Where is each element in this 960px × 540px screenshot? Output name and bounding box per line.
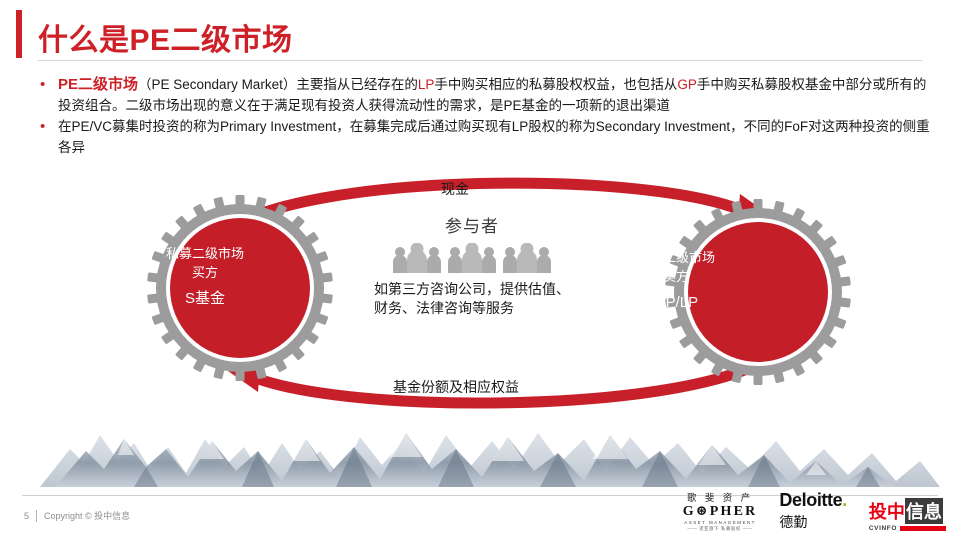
bullet-list: • PE二级市场（PE Secondary Market）主要指从已经存在的LP…: [36, 74, 932, 158]
bullet-text: PE二级市场（PE Secondary Market）主要指从已经存在的LP手中…: [58, 74, 932, 116]
seller-line3: GP/LP: [596, 293, 756, 312]
slide-root: 什么是PE二级市场 • PE二级市场（PE Secondary Market）主…: [0, 0, 960, 540]
bullet-marker: •: [36, 74, 58, 95]
seller-line2: 卖方: [596, 267, 756, 286]
deloitte-green-dot: .: [842, 490, 847, 510]
logo-strip: 歌 斐 资 产 G⊛PHER ASSET MANAGEMENT —— 诺亚旗下 …: [683, 490, 946, 532]
deloitte-cn: 德勤: [779, 512, 846, 532]
page-number: 5: [24, 511, 29, 521]
buyer-line3: S基金: [125, 289, 285, 308]
list-item: • PE二级市场（PE Secondary Market）主要指从已经存在的LP…: [36, 74, 932, 116]
deloitte-wordmark: Deloitte: [779, 490, 842, 510]
cvinfo-dark: 信息: [905, 498, 943, 524]
buyer-line2: 买方: [125, 263, 285, 282]
bullet-segment: （PE Secondary Market）主要指从已经存在的: [138, 77, 418, 92]
seller-line1: 私募二级市场: [596, 248, 756, 267]
people-group-icon: [374, 243, 570, 273]
node-label-buyer: 私募二级市场 买方 S基金: [125, 244, 285, 308]
bullet-text: 在PE/VC募集时投资的称为Primary Investment，在募集完成后通…: [58, 116, 932, 158]
people-group-icon: [447, 243, 497, 273]
bullet-segment-emphasis: PE二级市场: [58, 76, 138, 93]
arrow-label-cash: 现金: [441, 179, 469, 199]
logo-deloitte: Deloitte. 德勤: [779, 490, 846, 532]
bullet-segment-lp: LP: [418, 77, 435, 92]
copyright-text: Copyright © 投中信息: [44, 509, 130, 522]
bullet-marker: •: [36, 116, 58, 137]
gopher-sub2: —— 诺亚旗下 私募股权 ——: [683, 526, 758, 532]
buyer-line1: 私募二级市场: [125, 244, 285, 263]
participants-block: 参与者: [374, 212, 570, 318]
list-item: • 在PE/VC募集时投资的称为Primary Investment，在募集完成…: [36, 116, 932, 158]
bullet-segment: 手中购买相应的私募股权权益，也包括从: [434, 77, 677, 92]
footer-separator: [36, 510, 37, 522]
title-divider: [38, 60, 922, 61]
gopher-en: G⊛PHER: [683, 504, 758, 520]
gopher-cn: 歌 斐 资 产: [683, 490, 758, 504]
node-label-seller: 私募二级市场 卖方 GP/LP: [596, 248, 756, 312]
cvinfo-red-bar: [900, 526, 946, 531]
footer-left: 5 Copyright © 投中信息: [24, 509, 130, 522]
logo-gopher: 歌 斐 资 产 G⊛PHER ASSET MANAGEMENT —— 诺亚旗下 …: [683, 490, 758, 532]
deloitte-en: Deloitte.: [779, 490, 846, 511]
people-group-icon: [392, 243, 442, 273]
cvinfo-red: 投中: [869, 498, 905, 524]
logo-cvinfo: 投中 信息 CVINFO: [869, 498, 946, 532]
people-group-icon: [502, 243, 552, 273]
cvinfo-wordmark: 投中 信息: [869, 498, 946, 524]
cvinfo-sub: CVINFO: [869, 525, 946, 532]
title-accent-bar: [16, 10, 22, 58]
arrow-label-share: 基金份额及相应权益: [393, 377, 519, 397]
participants-title: 参与者: [374, 212, 570, 237]
page-title: 什么是PE二级市场: [38, 15, 293, 59]
participants-description: 如第三方咨询公司，提供估值、财务、法律咨询等服务: [374, 280, 570, 318]
bullet-segment-gp: GP: [677, 77, 697, 92]
gopher-sub: ASSET MANAGEMENT: [683, 520, 758, 525]
cvinfo-en: CVINFO: [869, 525, 897, 532]
